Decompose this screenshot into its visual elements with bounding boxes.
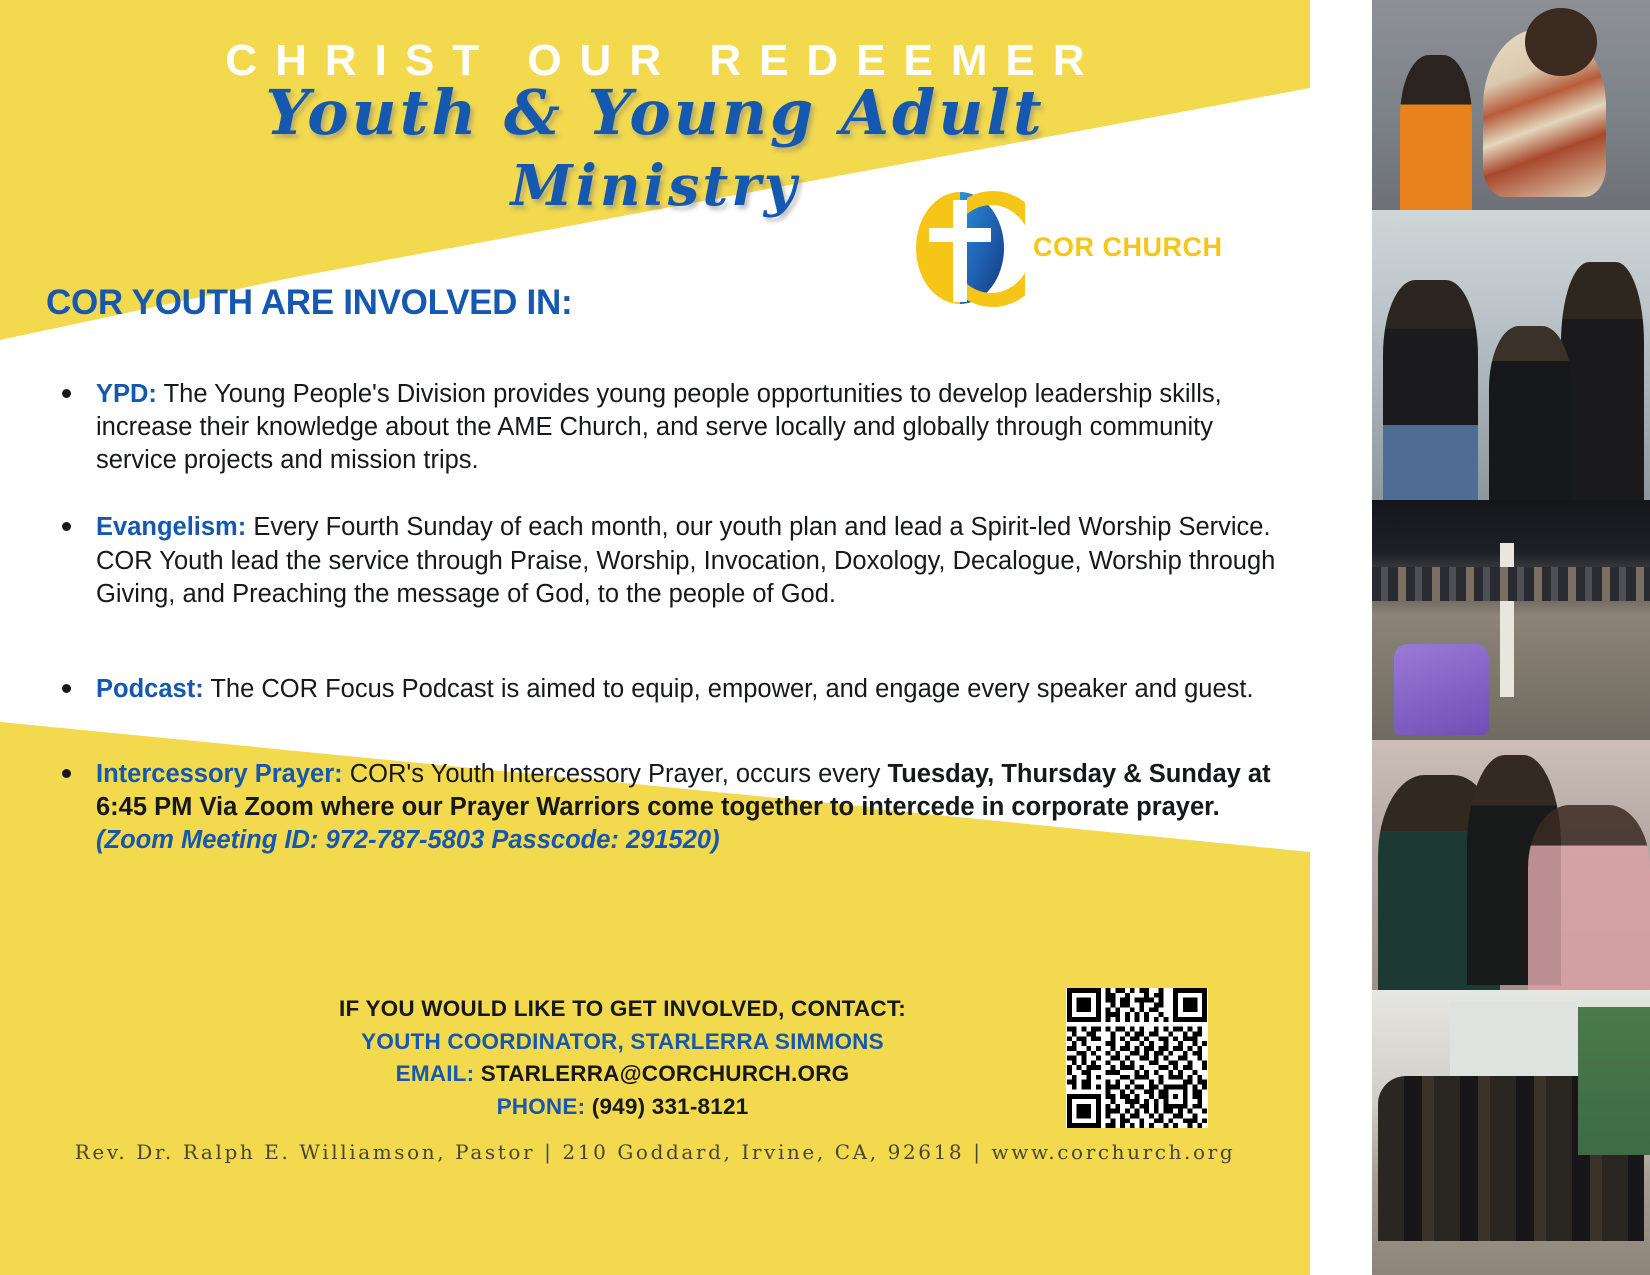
qr-code-icon[interactable]: [1066, 988, 1208, 1128]
qr-code-graphic: [1066, 988, 1208, 1128]
phone-value[interactable]: (949) 331-8121: [592, 1094, 749, 1119]
contact-intro-line: IF YOU WOULD LIKE TO GET INVOLVED, CONTA…: [0, 993, 1245, 1026]
photo-youth-speaker: [1372, 0, 1650, 210]
photo-youth-praying: [1372, 740, 1650, 990]
photo-figure: [1561, 262, 1644, 500]
script-line-1: Youth & Young Adult: [0, 82, 1310, 144]
list-item-text: The Young People's Division provides you…: [96, 380, 1222, 474]
email-label: EMAIL:: [396, 1061, 475, 1086]
list-item-ypd: YPD: The Young People's Division provide…: [46, 378, 1291, 477]
list-item-label: YPD:: [96, 380, 157, 408]
photo-collage: [1372, 0, 1650, 1275]
contact-email-line[interactable]: EMAIL: STARLERRA@CORCHURCH.ORG: [0, 1058, 1245, 1091]
contact-block: IF YOU WOULD LIKE TO GET INVOLVED, CONTA…: [0, 993, 1245, 1124]
list-item-text: The COR Focus Podcast is aimed to equip,…: [210, 675, 1253, 703]
list-item-text-intro: COR's Youth Intercessory Prayer, occurs …: [350, 760, 888, 788]
photo-figure: [1378, 1076, 1645, 1241]
involvement-list: YPD: The Young People's Division provide…: [46, 378, 1291, 887]
bullet-dot-icon: [62, 769, 71, 778]
footer-contact-line: Rev. Dr. Ralph E. Williamson, Pastor | 2…: [0, 1140, 1310, 1164]
list-item-evangelism: Evangelism: Every Fourth Sunday of each …: [46, 511, 1291, 610]
zoom-meeting-info: (Zoom Meeting ID: 972-787-5803 Passcode:…: [96, 826, 720, 854]
list-item-label: Intercessory Prayer:: [96, 760, 343, 788]
list-item-label: Evangelism:: [96, 513, 246, 541]
list-item-label: Podcast:: [96, 675, 204, 703]
bullet-dot-icon: [62, 522, 71, 531]
page-title: COR YOUTH ARE INVOLVED IN:: [46, 283, 572, 323]
photo-figure: [1400, 55, 1472, 210]
bullet-dot-icon: [62, 684, 71, 693]
logo-wordmark: COR CHURCH: [1033, 232, 1223, 263]
email-value[interactable]: STARLERRA@CORCHURCH.ORG: [481, 1061, 850, 1086]
list-item-text: Every Fourth Sunday of each month, our y…: [96, 513, 1275, 607]
cor-church-logo: COR CHURCH: [905, 188, 1185, 313]
coordinator-role: YOUTH COORDINATOR: [361, 1029, 617, 1054]
flyer-page: CHRIST OUR REDEEMER Youth & Young Adult …: [0, 0, 1650, 1275]
photo-figure: [1467, 755, 1562, 985]
bullet-dot-icon: [62, 389, 71, 398]
phone-label: PHONE:: [497, 1094, 586, 1119]
photo-figure: [1372, 567, 1650, 601]
coordinator-comma: ,: [618, 1029, 624, 1054]
list-item-intercessory-prayer: Intercessory Prayer: COR's Youth Interce…: [46, 758, 1291, 857]
coordinator-name: STARLERRA SIMMONS: [630, 1029, 883, 1054]
cross-circle-logo-icon: [905, 188, 1025, 308]
list-item-podcast: Podcast: The COR Focus Podcast is aimed …: [46, 673, 1291, 706]
contact-phone-line[interactable]: PHONE: (949) 331-8121: [0, 1091, 1245, 1124]
photo-youth-kneeling: [1372, 990, 1650, 1275]
photo-youth-choir: [1372, 210, 1650, 500]
contact-coordinator-line: YOUTH COORDINATOR, STARLERRA SIMMONS: [0, 1026, 1245, 1059]
photo-sanctuary-gathering: [1372, 500, 1650, 740]
